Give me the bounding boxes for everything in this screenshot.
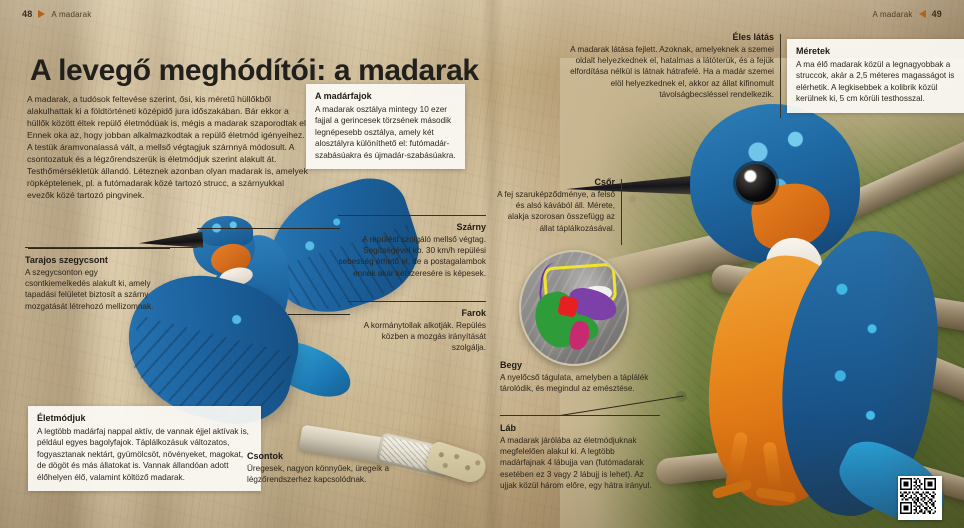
leader-line-tarajos bbox=[28, 248, 170, 249]
page-title: A levegő meghódítói: a madarak bbox=[30, 56, 479, 86]
page-number-right: 49 bbox=[932, 9, 942, 19]
callout-eles-latas: Éles látás A madarak látása fejlett. Azo… bbox=[569, 32, 774, 100]
info-box-text: A madarak osztálya mintegy 10 ezer fajja… bbox=[315, 104, 456, 161]
info-box-title: Méretek bbox=[796, 46, 956, 56]
callout-text: Üregesek, nagyon könnyűek, üregeik a lég… bbox=[247, 463, 447, 485]
callout-text: A szegycsonton egy csontkiemelkedés alak… bbox=[25, 267, 155, 312]
callout-csontok: Csontok Üregesek, nagyon könnyűek, ürege… bbox=[247, 451, 447, 485]
header-label-right: A madarak bbox=[873, 10, 913, 19]
textbook-spread: 48 A madarak A madarak 49 A levegő meghó… bbox=[0, 0, 964, 528]
flying-kingfisher-crown bbox=[201, 216, 253, 246]
callout-rule bbox=[338, 215, 486, 216]
info-box-text: A legtöbb madárfaj nappal aktív, de vann… bbox=[37, 426, 252, 483]
callout-title: Csontok bbox=[247, 451, 447, 461]
callout-rule bbox=[621, 179, 622, 245]
callout-begy: Begy A nyelőcső tágulata, amelyben a táp… bbox=[500, 360, 652, 394]
callout-rule bbox=[500, 415, 660, 416]
callout-title: Tarajos szegycsont bbox=[25, 255, 155, 265]
info-box-meretek: Méretek A ma élő madarak közül a legnagy… bbox=[787, 39, 964, 113]
callout-tarajos-szegycsont: Tarajos szegycsont A szegycsonton egy cs… bbox=[25, 255, 155, 312]
callout-text: A madarak járólába az életmódjuknak megf… bbox=[500, 435, 660, 491]
callout-title: Farok bbox=[348, 308, 486, 318]
callout-title: Láb bbox=[500, 423, 660, 433]
callout-text: A madarak látása fejlett. Azoknak, amely… bbox=[569, 44, 774, 100]
callout-rule bbox=[780, 34, 781, 118]
arrow-right-icon bbox=[38, 10, 45, 18]
callout-text: A repülést szolgáló mellső végtag. Segít… bbox=[338, 234, 486, 279]
callout-text: A kormánytollak alkotják. Repülés közben… bbox=[348, 320, 486, 354]
callout-lab: Láb A madarak járólába az életmódjuknak … bbox=[500, 423, 660, 491]
qr-code-icon bbox=[900, 478, 936, 514]
callout-szarny: Szárny A repülést szolgáló mellső végtag… bbox=[338, 222, 486, 279]
crop-anatomy-inset bbox=[519, 250, 629, 366]
header-left: 48 A madarak bbox=[22, 9, 91, 19]
header-right: A madarak 49 bbox=[873, 9, 942, 19]
callout-text: A fej szaruképződménye, a felső és alsó … bbox=[493, 189, 615, 234]
header-label-left: A madarak bbox=[51, 10, 91, 19]
callout-title: Begy bbox=[500, 360, 652, 370]
callout-title: Szárny bbox=[338, 222, 486, 232]
callout-rule bbox=[348, 301, 486, 302]
info-box-eletmodjuk: Életmódjuk A legtöbb madárfaj nappal akt… bbox=[28, 406, 261, 491]
title-bold: a madarak bbox=[334, 54, 479, 87]
leader-line-szarny bbox=[197, 228, 340, 229]
info-box-text: A ma élő madarak közül a legnagyobbak a … bbox=[796, 59, 956, 105]
title-regular: A levegő meghódítói: bbox=[30, 54, 334, 87]
callout-text: A nyelőcső tágulata, amelyben a táplálék… bbox=[500, 372, 652, 394]
info-box-madarfajok: A madárfajok A madarak osztálya mintegy … bbox=[306, 84, 465, 169]
leader-line-farok bbox=[288, 314, 350, 315]
qr-code[interactable] bbox=[898, 476, 942, 520]
arrow-left-icon bbox=[919, 10, 926, 18]
callout-title: Csőr bbox=[493, 177, 615, 187]
callout-title: Éles látás bbox=[569, 32, 774, 42]
callout-farok: Farok A kormánytollak alkotják. Repülés … bbox=[348, 308, 486, 354]
callout-csor: Csőr A fej szaruképződménye, a felső és … bbox=[493, 177, 615, 234]
intro-paragraph: A madarak, a tudósok feltevése szerint, … bbox=[27, 93, 309, 202]
callout-rule bbox=[25, 247, 197, 248]
page-number-left: 48 bbox=[22, 9, 32, 19]
info-box-title: Életmódjuk bbox=[37, 413, 252, 423]
info-box-title: A madárfajok bbox=[315, 91, 456, 101]
